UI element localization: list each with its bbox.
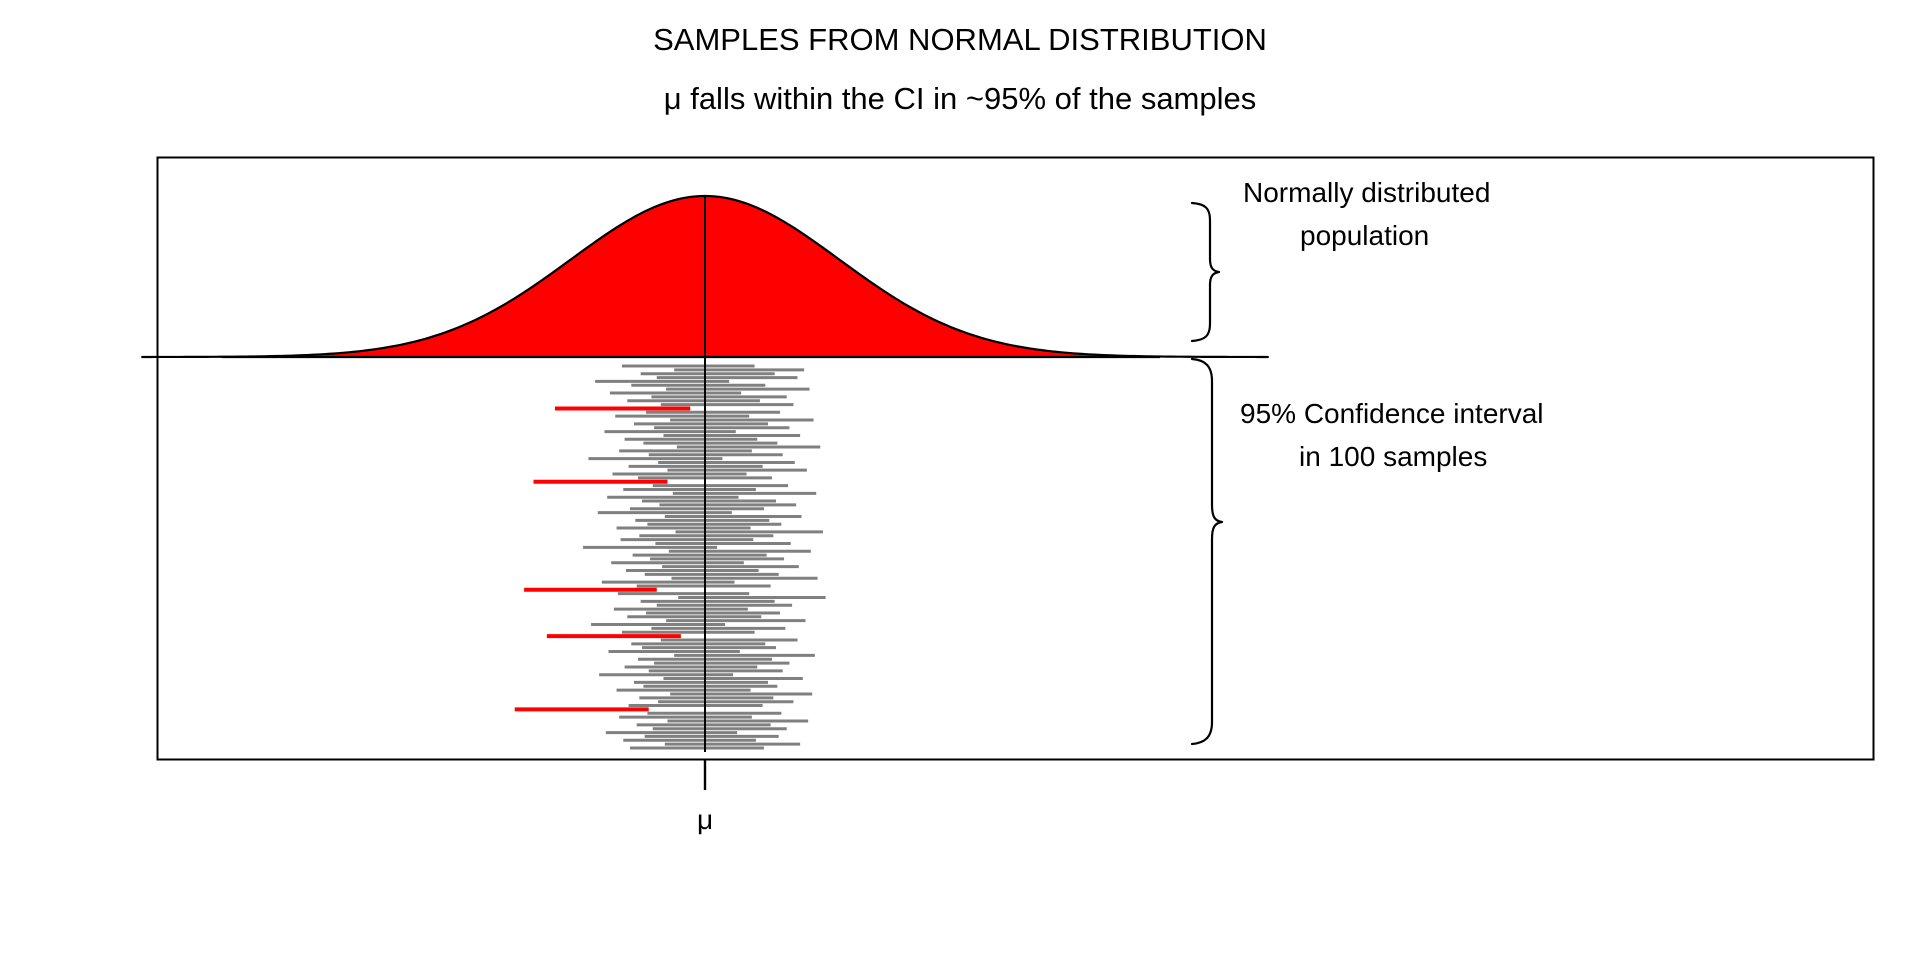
- annotation-ci-line2: in 100 samples: [1299, 441, 1487, 473]
- figure-canvas: SAMPLES FROM NORMAL DISTRIBUTION μ falls…: [0, 0, 1920, 960]
- annotation-population-line2: population: [1300, 220, 1429, 252]
- page-subtitle: μ falls within the CI in ~95% of the sam…: [0, 81, 1920, 117]
- page-title: SAMPLES FROM NORMAL DISTRIBUTION: [0, 22, 1920, 58]
- ci-interval-list: [515, 366, 826, 748]
- mu-axis-label: μ: [697, 804, 713, 836]
- plot-frame: [158, 158, 1874, 760]
- annotation-ci-line1: 95% Confidence interval: [1240, 398, 1544, 430]
- brace-population: [1192, 203, 1219, 341]
- plot-area: [0, 0, 1920, 960]
- annotation-population-line1: Normally distributed: [1243, 177, 1490, 209]
- brace-confidence-interval: [1192, 359, 1222, 744]
